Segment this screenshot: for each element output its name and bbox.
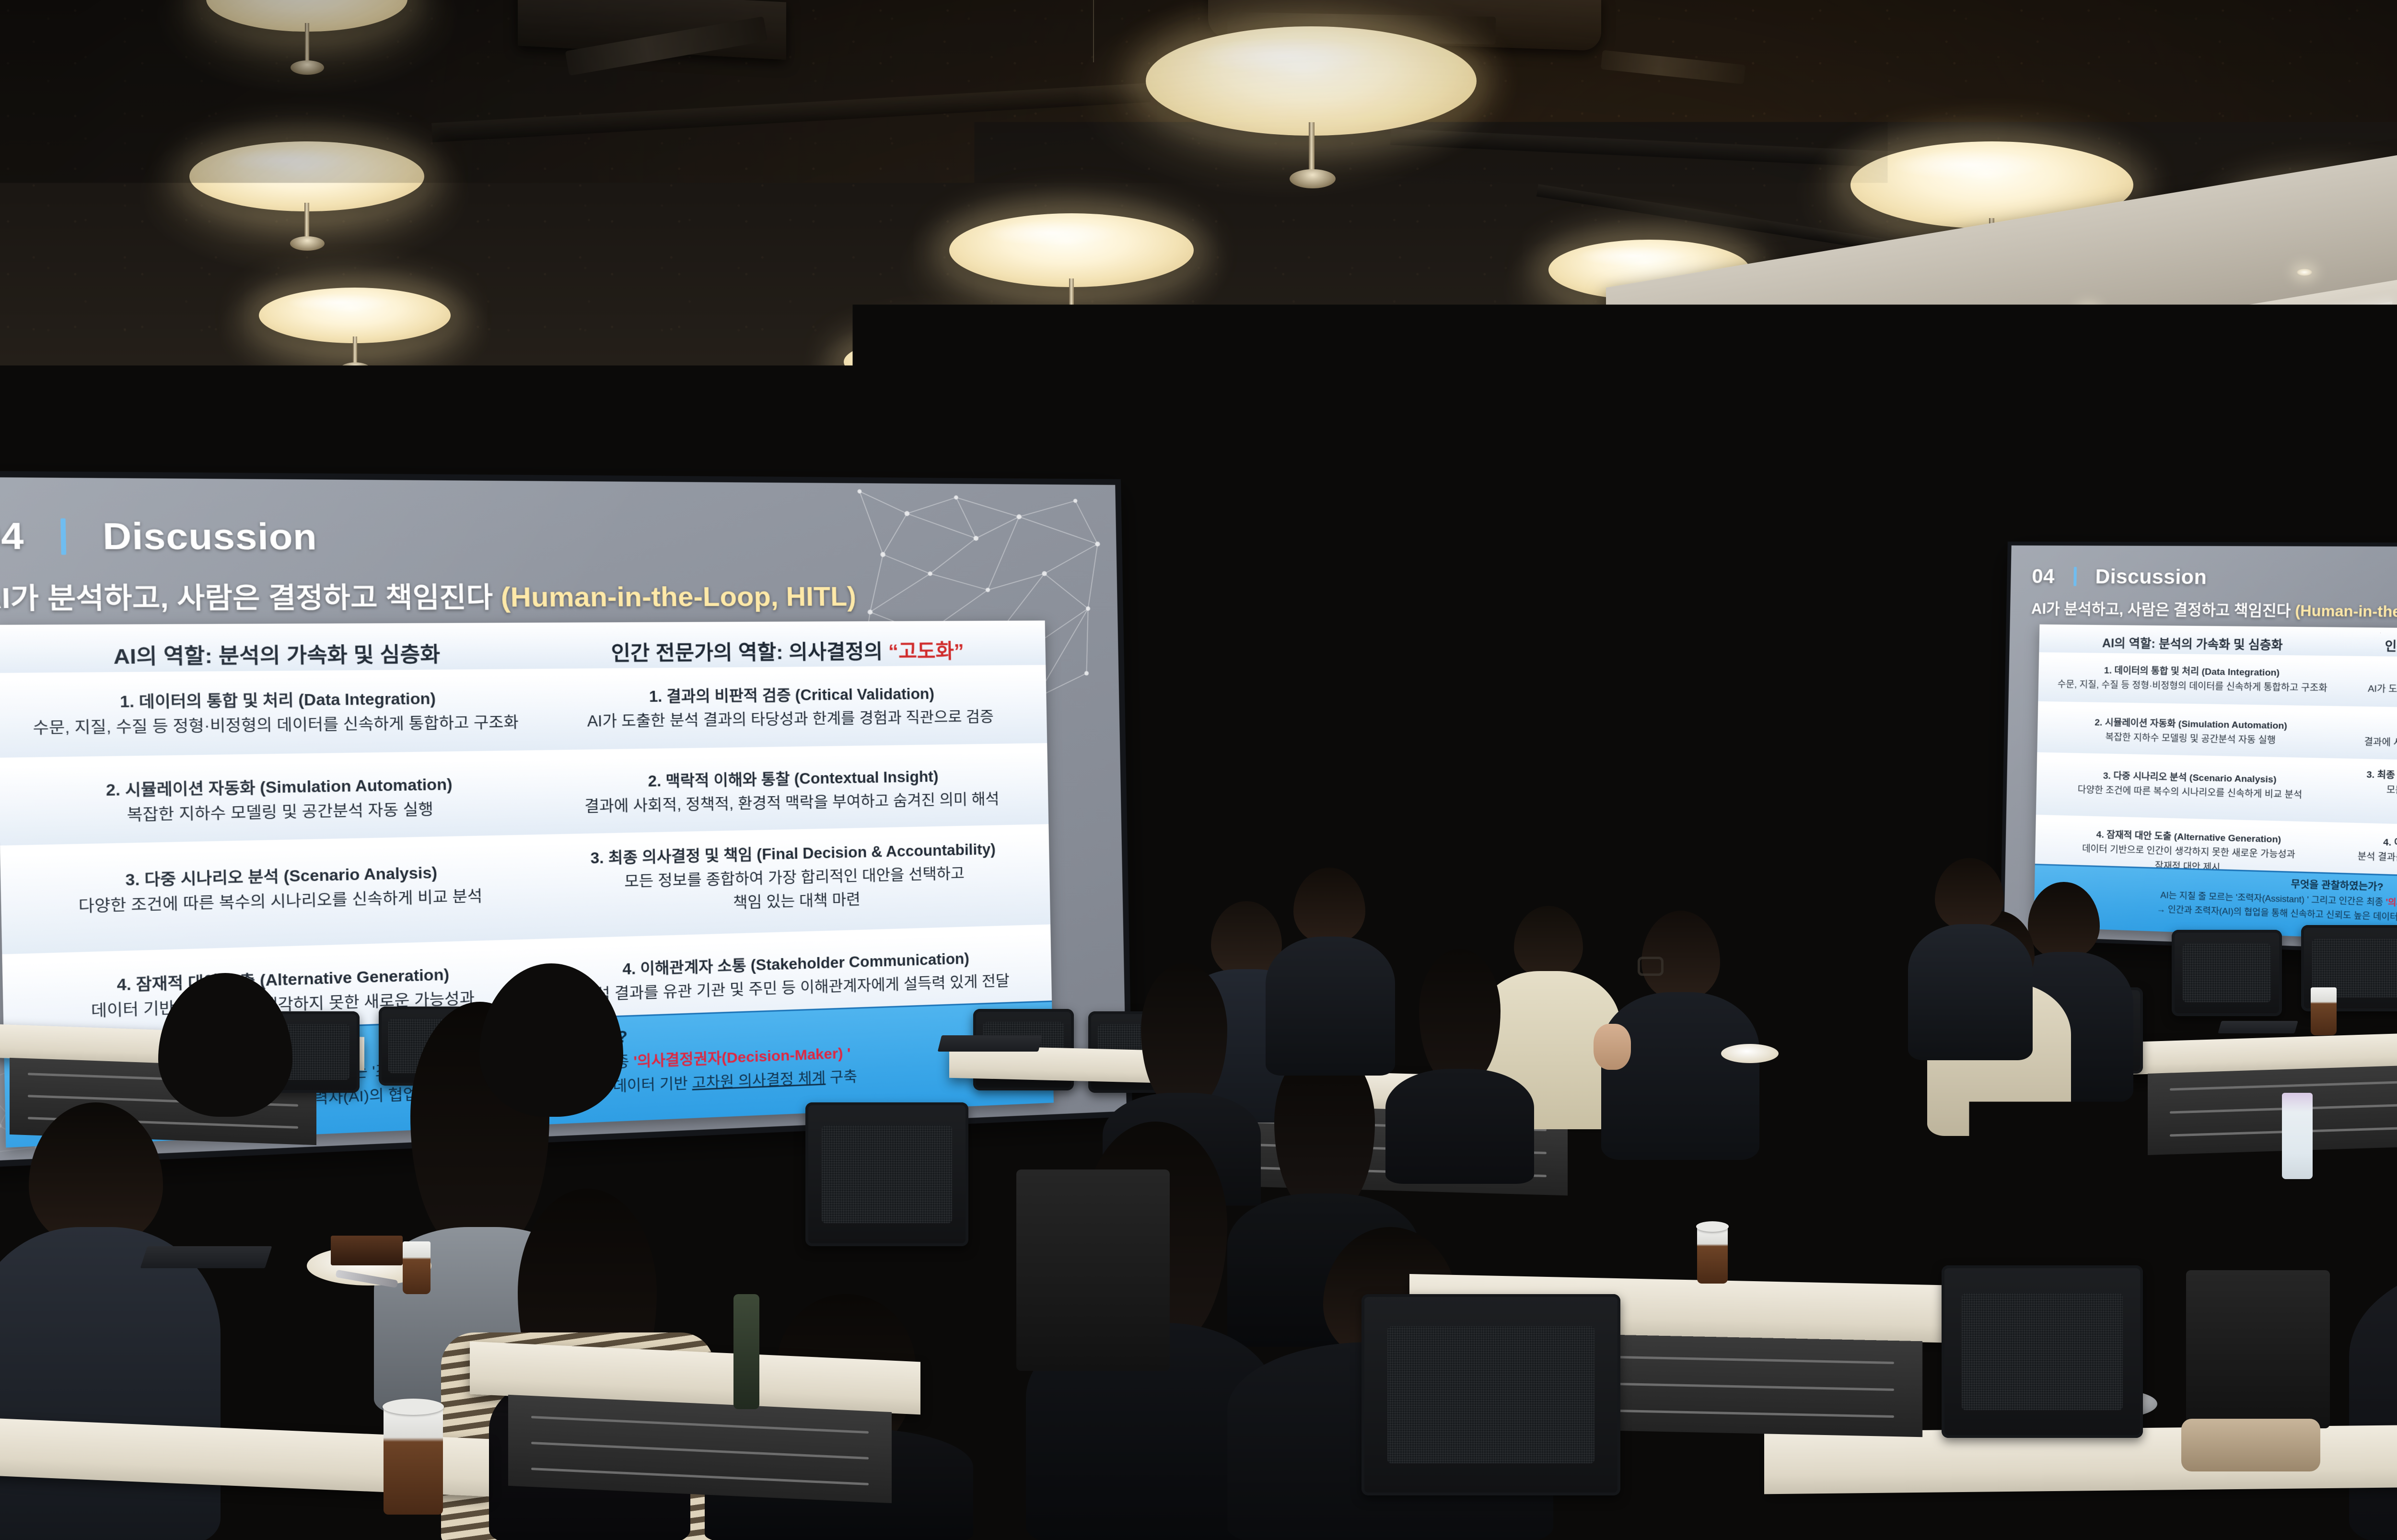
presenter-glasses: [1634, 772, 1682, 778]
list-item: 3. 다중 시나리오 분석 (Scenario Analysis) 다양한 조건…: [2045, 768, 2337, 804]
chair-foreground: [1942, 1265, 2143, 1438]
laptop: [140, 1246, 272, 1268]
column-header-accent: “고도화”: [888, 640, 965, 663]
slide-subtitle-en: (Human-in-the-Loop, HITL): [500, 581, 856, 613]
cake-slice: [331, 1236, 403, 1265]
head: [1641, 911, 1720, 1000]
card-band: [0, 752, 1048, 845]
recessed-downlight: [2296, 268, 2313, 276]
torso: [1601, 992, 1759, 1160]
hand: [1594, 1024, 1631, 1070]
attendee: [1266, 868, 1395, 1074]
torso: [1719, 782, 1795, 926]
list-item: 4. 이해관계자 소통 (Stakeholder Communication) …: [2336, 834, 2397, 873]
laptop: [2218, 1021, 2298, 1033]
card-band: [0, 671, 1047, 757]
head: [29, 1102, 163, 1246]
card-band: [0, 621, 1046, 673]
torso: [1266, 937, 1395, 1076]
microphone-head: [1667, 821, 1688, 842]
head: [1737, 738, 1778, 786]
slide-header: 04 Discussion: [2032, 565, 2207, 589]
column-header-human: 인간 전문가의 역할: 의사결정의 “고도화”: [2344, 636, 2397, 657]
attendee: [1908, 858, 2033, 1059]
handbag: [2186, 1270, 2330, 1428]
standing-attendee: [1716, 738, 1798, 939]
head: [1293, 868, 1365, 943]
list-item: 4. 잠재적 대안 도출 (Alternative Generation) 데이…: [2044, 826, 2336, 879]
coffee-cup: [403, 1241, 431, 1294]
chair: [2172, 930, 2282, 1016]
desk-cabinet: [508, 1395, 892, 1503]
chair-foreground: [1361, 1294, 1620, 1495]
dessert-plate: [1721, 1044, 1779, 1063]
coffee-cup: [1822, 1069, 1847, 1115]
card-band: [0, 833, 1050, 954]
list-item: 2. 맥락적 이해와 통찰 (Contextual Insight) 결과에 사…: [2341, 720, 2397, 756]
list-item: 2. 시뮬레이션 자동화 (Simulation Automation) 복잡한…: [15, 771, 537, 830]
recessed-downlight: [1860, 347, 1876, 355]
coffee-cup: [1807, 987, 1834, 1039]
water-bottle: [2282, 1093, 2313, 1179]
conference-room-photo: 04 Discussion AI가 분석하고, 사람은 결정하고 책임진다 (H…: [0, 0, 2397, 1540]
list-item: 2. 맥락적 이해와 통찰 (Contextual Insight) 결과에 사…: [547, 764, 1034, 819]
coffee-cup: [1697, 1227, 1728, 1284]
torso: [1908, 924, 2033, 1060]
slide-subtitle: AI가 분석하고, 사람은 결정하고 책임진다 (Human-in-the-Lo…: [2031, 596, 2397, 622]
tablet: [938, 1035, 1042, 1052]
slide-subtitle: AI가 분석하고, 사람은 결정하고 책임진다 (Human-in-the-Lo…: [0, 574, 857, 616]
list-item: 3. 최종 의사결정 및 책임 (Final Decision & Accoun…: [543, 837, 1041, 920]
umbrella: [733, 1294, 759, 1409]
coffee-cup: [2311, 987, 2337, 1035]
lamp-wire: [1093, 0, 1094, 62]
list-item: 3. 다중 시나리오 분석 (Scenario Analysis) 다양한 조건…: [17, 858, 539, 920]
hair: [1141, 963, 1227, 1107]
column-header-human: 인간 전문가의 역할: 의사결정의 “고도화”: [544, 634, 1026, 667]
chair-foreground: [805, 1102, 968, 1246]
torso: [2349, 1261, 2397, 1540]
backpack: [1016, 1169, 1170, 1371]
list-item: 1. 데이터의 통합 및 처리 (Data Integration) 수문, 지…: [2047, 663, 2339, 696]
list-item: 3. 최종 의사결정 및 책임 (Final Decision & Accoun…: [2337, 767, 2397, 820]
column-header-ai: AI의 역할: 분석의 가속화 및 심층화: [2050, 633, 2336, 654]
list-item: 4. 이해관계자 소통 (Stakeholder Communication) …: [545, 945, 1042, 1008]
slide-subtitle-ko: AI가 분석하고, 사람은 결정하고 책임진다: [0, 581, 501, 614]
list-item: 2. 시뮬레이션 자동화 (Simulation Automation) 복잡한…: [2046, 715, 2338, 750]
eyeglasses: [1638, 957, 1664, 976]
list-item: 1. 결과의 비판적 검증 (Critical Validation) AI가 …: [2342, 667, 2397, 701]
network-graphic: [843, 483, 1120, 758]
column-header-ai: AI의 역할: 분석의 가속화 및 심층화: [18, 637, 529, 671]
head: [1935, 858, 2004, 930]
torso: [0, 1227, 221, 1540]
pencil-case: [2181, 1419, 2320, 1471]
slide-header: 04 Discussion: [0, 515, 317, 558]
list-item: 1. 데이터의 통합 및 처리 (Data Integration) 수문, 지…: [14, 686, 536, 741]
cup-lid: [383, 1399, 444, 1415]
cup-lid: [1696, 1221, 1729, 1232]
attendee: [1601, 911, 1759, 1160]
hair: [1419, 949, 1501, 1083]
slide-accent-bar: [60, 518, 66, 555]
recessed-downlight: [2081, 307, 2097, 314]
ceiling-speaker: [1267, 316, 1300, 374]
slide-section-number: 04: [0, 515, 24, 558]
ceiling-speaker: [1208, 340, 1254, 403]
iced-coffee-cup: [384, 1404, 443, 1515]
slide-section-title: Discussion: [102, 515, 317, 558]
list-item: 1. 결과의 비판적 검증 (Critical Validation) AI가 …: [545, 682, 1032, 734]
